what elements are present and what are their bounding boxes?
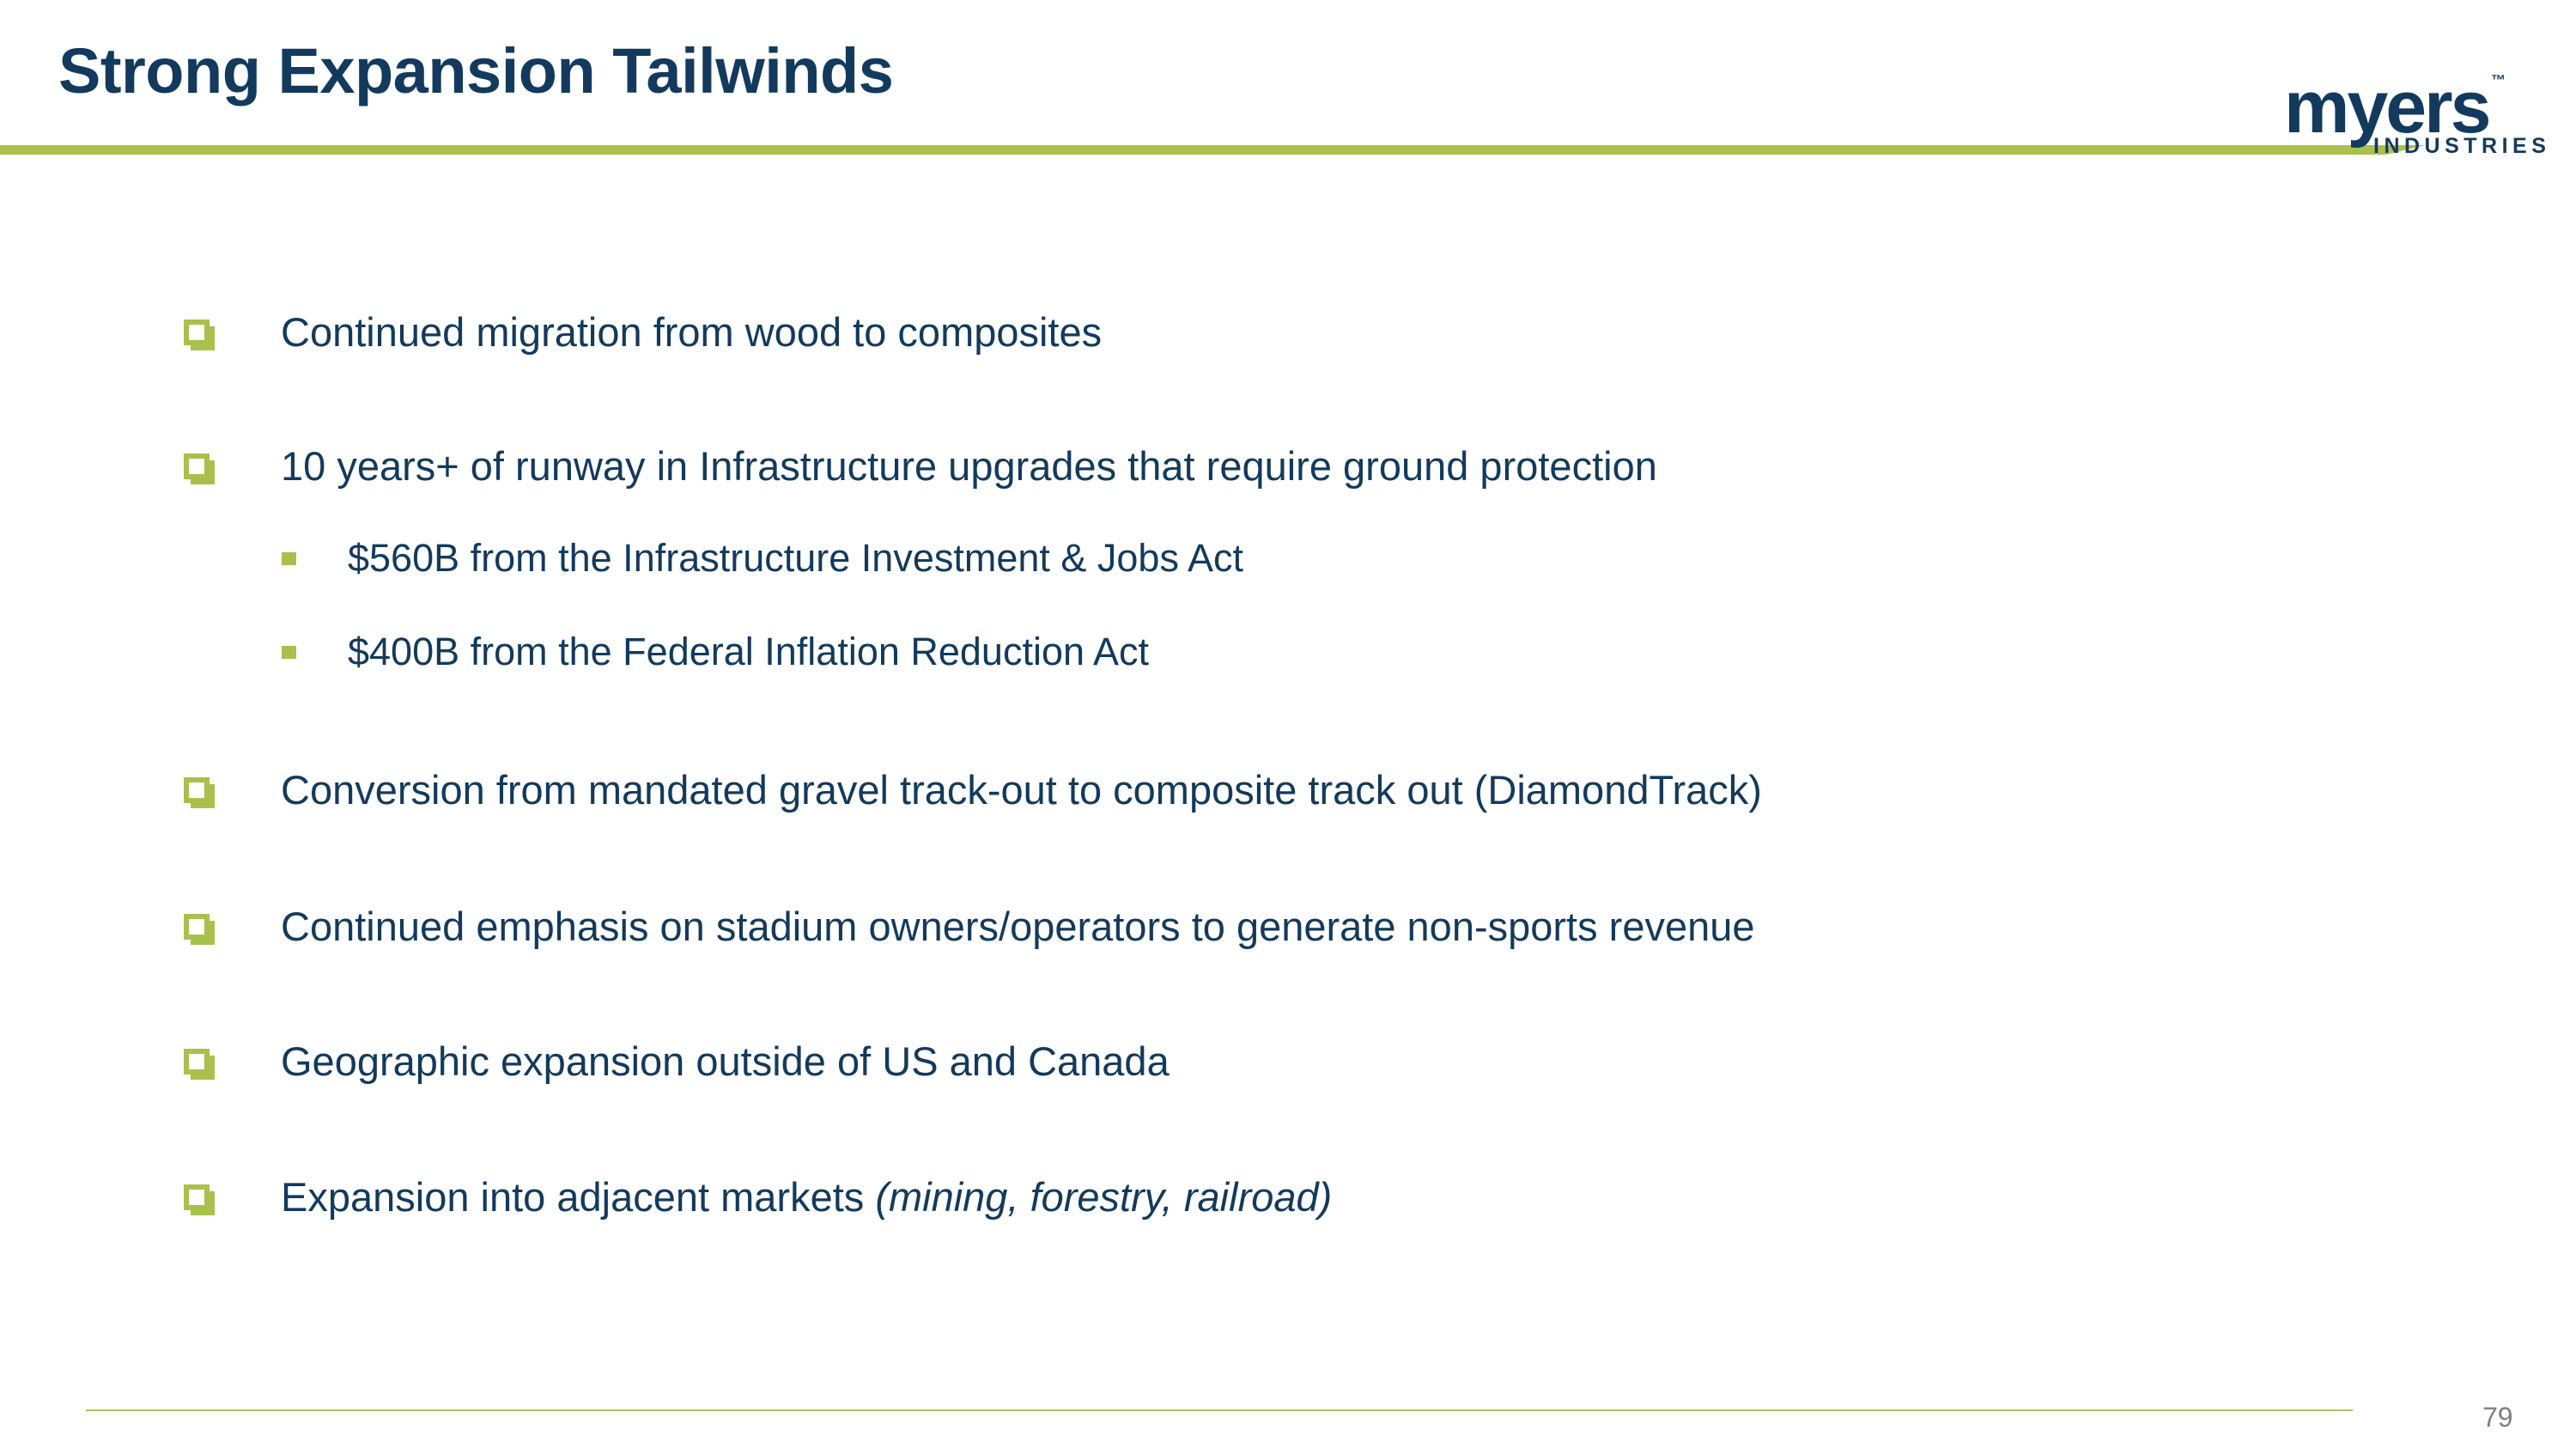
header-divider-rule (0, 145, 2386, 155)
bullet-item: $400B from the Federal Inflation Reducti… (282, 626, 1149, 678)
page-title: Strong Expansion Tailwinds (58, 34, 893, 107)
bullet-text: $560B from the Infrastructure Investment… (348, 533, 1243, 584)
hollow-square-bullet-icon (184, 777, 210, 803)
hollow-square-bullet-icon (184, 454, 210, 479)
bullet-text: Continued emphasis on stadium owners/ope… (281, 900, 1755, 953)
hollow-square-bullet-icon (184, 914, 210, 940)
bullet-item: Geographic expansion outside of US and C… (184, 1035, 1170, 1088)
bullet-text: Expansion into adjacent markets (mining,… (281, 1171, 1332, 1224)
hollow-square-bullet-icon (184, 320, 210, 345)
bullet-text: Conversion from mandated gravel track-ou… (281, 764, 1762, 817)
logo-subtitle: INDUSTRIES (2373, 134, 2550, 159)
footer-divider-rule (86, 1409, 2353, 1411)
solid-square-bullet-icon (282, 552, 296, 565)
bullet-item: Conversion from mandated gravel track-ou… (184, 764, 1762, 817)
bullet-text-plain: Expansion into adjacent markets (281, 1174, 875, 1220)
myers-industries-logo: myers ™ INDUSTRIES (2284, 70, 2559, 165)
bullet-item: Continued emphasis on stadium owners/ope… (184, 900, 1755, 953)
hollow-square-bullet-icon (184, 1049, 210, 1075)
bullet-text: $400B from the Federal Inflation Reducti… (348, 626, 1149, 678)
bullet-text: 10 years+ of runway in Infrastructure up… (281, 440, 1657, 493)
bullet-item: 10 years+ of runway in Infrastructure up… (184, 440, 1657, 493)
presentation-slide: Strong Expansion Tailwinds myers ™ INDUS… (0, 0, 2576, 1449)
trademark-icon: ™ (2491, 72, 2506, 89)
bullet-item: $560B from the Infrastructure Investment… (282, 533, 1243, 584)
bullet-item: Expansion into adjacent markets (mining,… (184, 1171, 1332, 1224)
solid-square-bullet-icon (282, 646, 296, 659)
bullet-text-italic: (mining, forestry, railroad) (875, 1174, 1332, 1220)
bullet-item: Continued migration from wood to composi… (184, 306, 1102, 359)
page-number: 79 (2482, 1402, 2513, 1434)
bullet-text: Geographic expansion outside of US and C… (281, 1035, 1170, 1088)
bullet-text: Continued migration from wood to composi… (281, 306, 1102, 359)
hollow-square-bullet-icon (184, 1184, 210, 1210)
